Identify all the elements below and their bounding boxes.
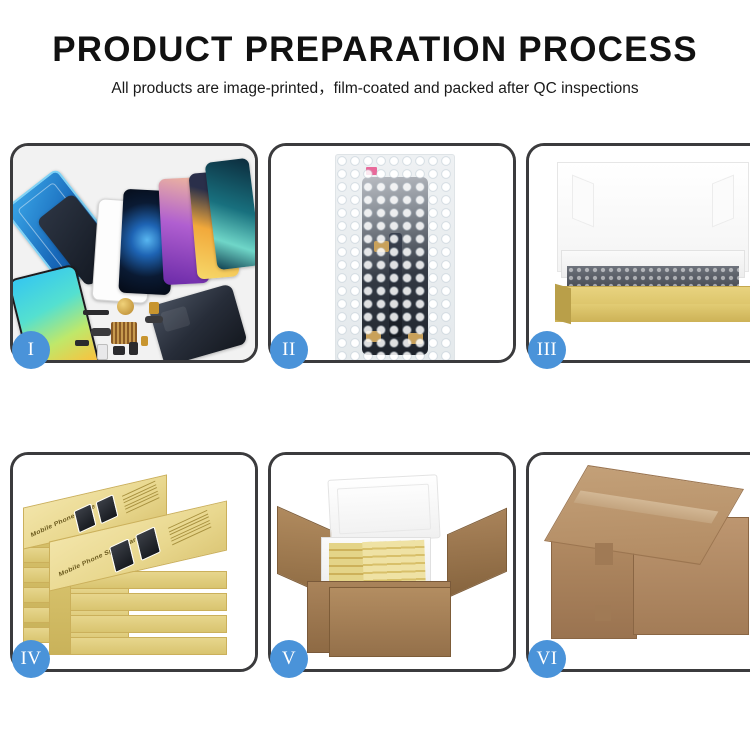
stack-right-layer-4 (49, 637, 227, 655)
product-preparation-infographic: PRODUCT PREPARATION PROCESS All products… (0, 0, 750, 750)
step-badge-5: V (270, 640, 308, 678)
camera-module (149, 302, 159, 314)
parts-illustration (13, 146, 255, 360)
foam-lid (327, 474, 440, 544)
step-badge-2: II (270, 331, 308, 369)
flex-cable-2 (91, 328, 111, 336)
box-spec-lines-2 (168, 510, 212, 548)
step-image-2 (271, 146, 513, 360)
box-tray-front (555, 304, 750, 322)
earpiece-part (83, 310, 109, 315)
step-panel-2: II (268, 143, 516, 363)
carton-front-panel (329, 587, 451, 657)
box-screen-image-2 (96, 494, 119, 524)
step-panel-1: I (10, 143, 258, 363)
bubblewrap-illustration (271, 146, 513, 360)
step-image-3 (529, 146, 750, 360)
step-badge-6: VI (528, 640, 566, 678)
bubble-bag (335, 154, 455, 360)
step-image-6 (529, 455, 750, 669)
screw-set (141, 336, 148, 346)
box-tray-side (555, 284, 571, 325)
page-subtitle: All products are image-printed，film-coat… (0, 78, 750, 100)
carton-corner-fold-top (595, 543, 613, 565)
page-title: PRODUCT PREPARATION PROCESS (0, 28, 750, 72)
box-screen-image-4 (135, 526, 161, 561)
step-image-1 (13, 146, 255, 360)
steps-grid: I II (10, 143, 740, 672)
lcd-connector-top (374, 241, 389, 252)
step-badge-3: III (528, 331, 566, 369)
stack-right-layer-2 (49, 593, 227, 611)
vibrator-part (113, 346, 125, 355)
sealed-carton-illustration (529, 455, 750, 669)
step-panel-6: VI (526, 452, 750, 672)
lid-flap-left (572, 175, 594, 228)
lcd-flex-cable (389, 233, 402, 337)
step-badge-4: IV (12, 640, 50, 678)
header: PRODUCT PREPARATION PROCESS All products… (0, 28, 750, 100)
step-badge-1: I (12, 331, 50, 369)
lcd-connector-right (408, 333, 423, 344)
step-panel-5: V (268, 452, 516, 672)
carton-foam-illustration (271, 455, 513, 669)
step-image-4: Mobile Phone Spare Parts (13, 455, 255, 669)
speaker-part (117, 298, 134, 315)
box-spec-lines-1 (122, 481, 160, 516)
carton-flap-right (447, 508, 507, 599)
open-box-illustration (529, 146, 750, 360)
carton-corner-fold-bottom (595, 605, 611, 621)
lcd-connector-left (366, 331, 381, 342)
step-image-5 (271, 455, 513, 669)
box-stack-illustration: Mobile Phone Spare Parts (13, 455, 255, 669)
battery-connector (129, 342, 138, 355)
small-part (75, 340, 89, 346)
pink-label-tab (366, 167, 377, 175)
flex-cable (145, 316, 163, 323)
lid-flap-right (712, 175, 734, 228)
step-panel-4: Mobile Phone Spare Parts (10, 452, 258, 672)
connector-board (111, 322, 137, 344)
packed-boxes-right (362, 540, 425, 586)
sim-tray (97, 344, 108, 360)
stack-right-layer-3 (49, 615, 227, 633)
step-panel-3: III (526, 143, 750, 363)
